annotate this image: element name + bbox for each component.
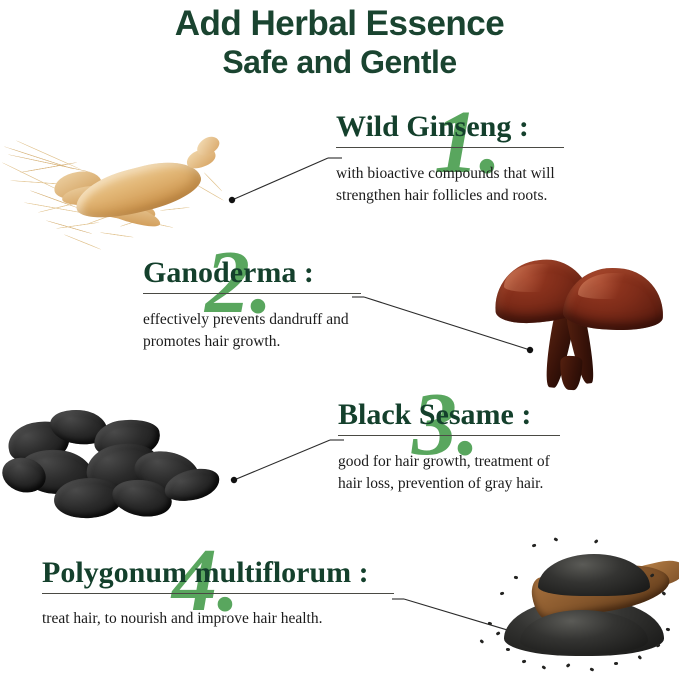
page-title: Add Herbal Essence Safe and Gentle	[0, 4, 679, 81]
section-2-head: 2. Ganoderma :	[143, 256, 361, 294]
section-1-desc-line-1: with bioactive compounds that will	[336, 163, 564, 185]
section-1-desc-line-2: strengthen hair follicles and roots.	[336, 185, 564, 207]
section-1-description: with bioactive compounds that will stren…	[336, 163, 564, 207]
section-4-head: 4. Polygonum multiflorum :	[42, 556, 394, 594]
leader-dot-1	[229, 197, 235, 203]
polygonum-dried-slices-photo	[2, 400, 242, 528]
section-4-rule	[42, 593, 394, 594]
title-line-1: Add Herbal Essence	[0, 4, 679, 44]
section-2-description: effectively prevents dandruff and promot…	[143, 309, 361, 353]
section-4-heading: Polygonum multiflorum :	[42, 556, 394, 590]
section-2-desc-line-1: effectively prevents dandruff and	[143, 309, 361, 331]
black-sesame-seeds-scoop-photo	[474, 536, 679, 679]
section-3-desc-line-2: hair loss, prevention of gray hair.	[338, 473, 560, 495]
section-black-sesame: 3. Black Sesame : good for hair growth, …	[338, 398, 560, 495]
title-line-2: Safe and Gentle	[0, 44, 679, 81]
section-4-desc-line-1: treat hair, to nourish and improve hair …	[42, 608, 394, 630]
infographic-canvas: Add Herbal Essence Safe and Gentle	[0, 0, 679, 679]
section-3-heading: Black Sesame :	[338, 398, 560, 432]
ganoderma-reishi-mushroom-photo	[492, 252, 667, 390]
leader-line-3	[226, 432, 346, 490]
section-3-head: 3. Black Sesame :	[338, 398, 560, 436]
section-3-rule	[338, 435, 560, 436]
leader-dot-3	[231, 477, 237, 483]
section-2-heading: Ganoderma :	[143, 256, 361, 290]
section-wild-ginseng: 1. Wild Ginseng : with bioactive compoun…	[336, 110, 564, 207]
section-4-description: treat hair, to nourish and improve hair …	[42, 608, 394, 630]
leader-line-1	[224, 148, 344, 218]
wild-ginseng-root-photo	[0, 128, 250, 250]
section-1-heading: Wild Ginseng :	[336, 110, 564, 144]
section-ganoderma: 2. Ganoderma : effectively prevents dand…	[143, 256, 361, 353]
section-1-rule	[336, 147, 564, 148]
section-2-desc-line-2: promotes hair growth.	[143, 331, 361, 353]
section-3-desc-line-1: good for hair growth, treatment of	[338, 451, 560, 473]
section-2-rule	[143, 293, 361, 294]
section-polygonum-multiflorum: 4. Polygonum multiflorum : treat hair, t…	[42, 556, 394, 630]
section-3-description: good for hair growth, treatment of hair …	[338, 451, 560, 495]
section-1-head: 1. Wild Ginseng :	[336, 110, 564, 148]
